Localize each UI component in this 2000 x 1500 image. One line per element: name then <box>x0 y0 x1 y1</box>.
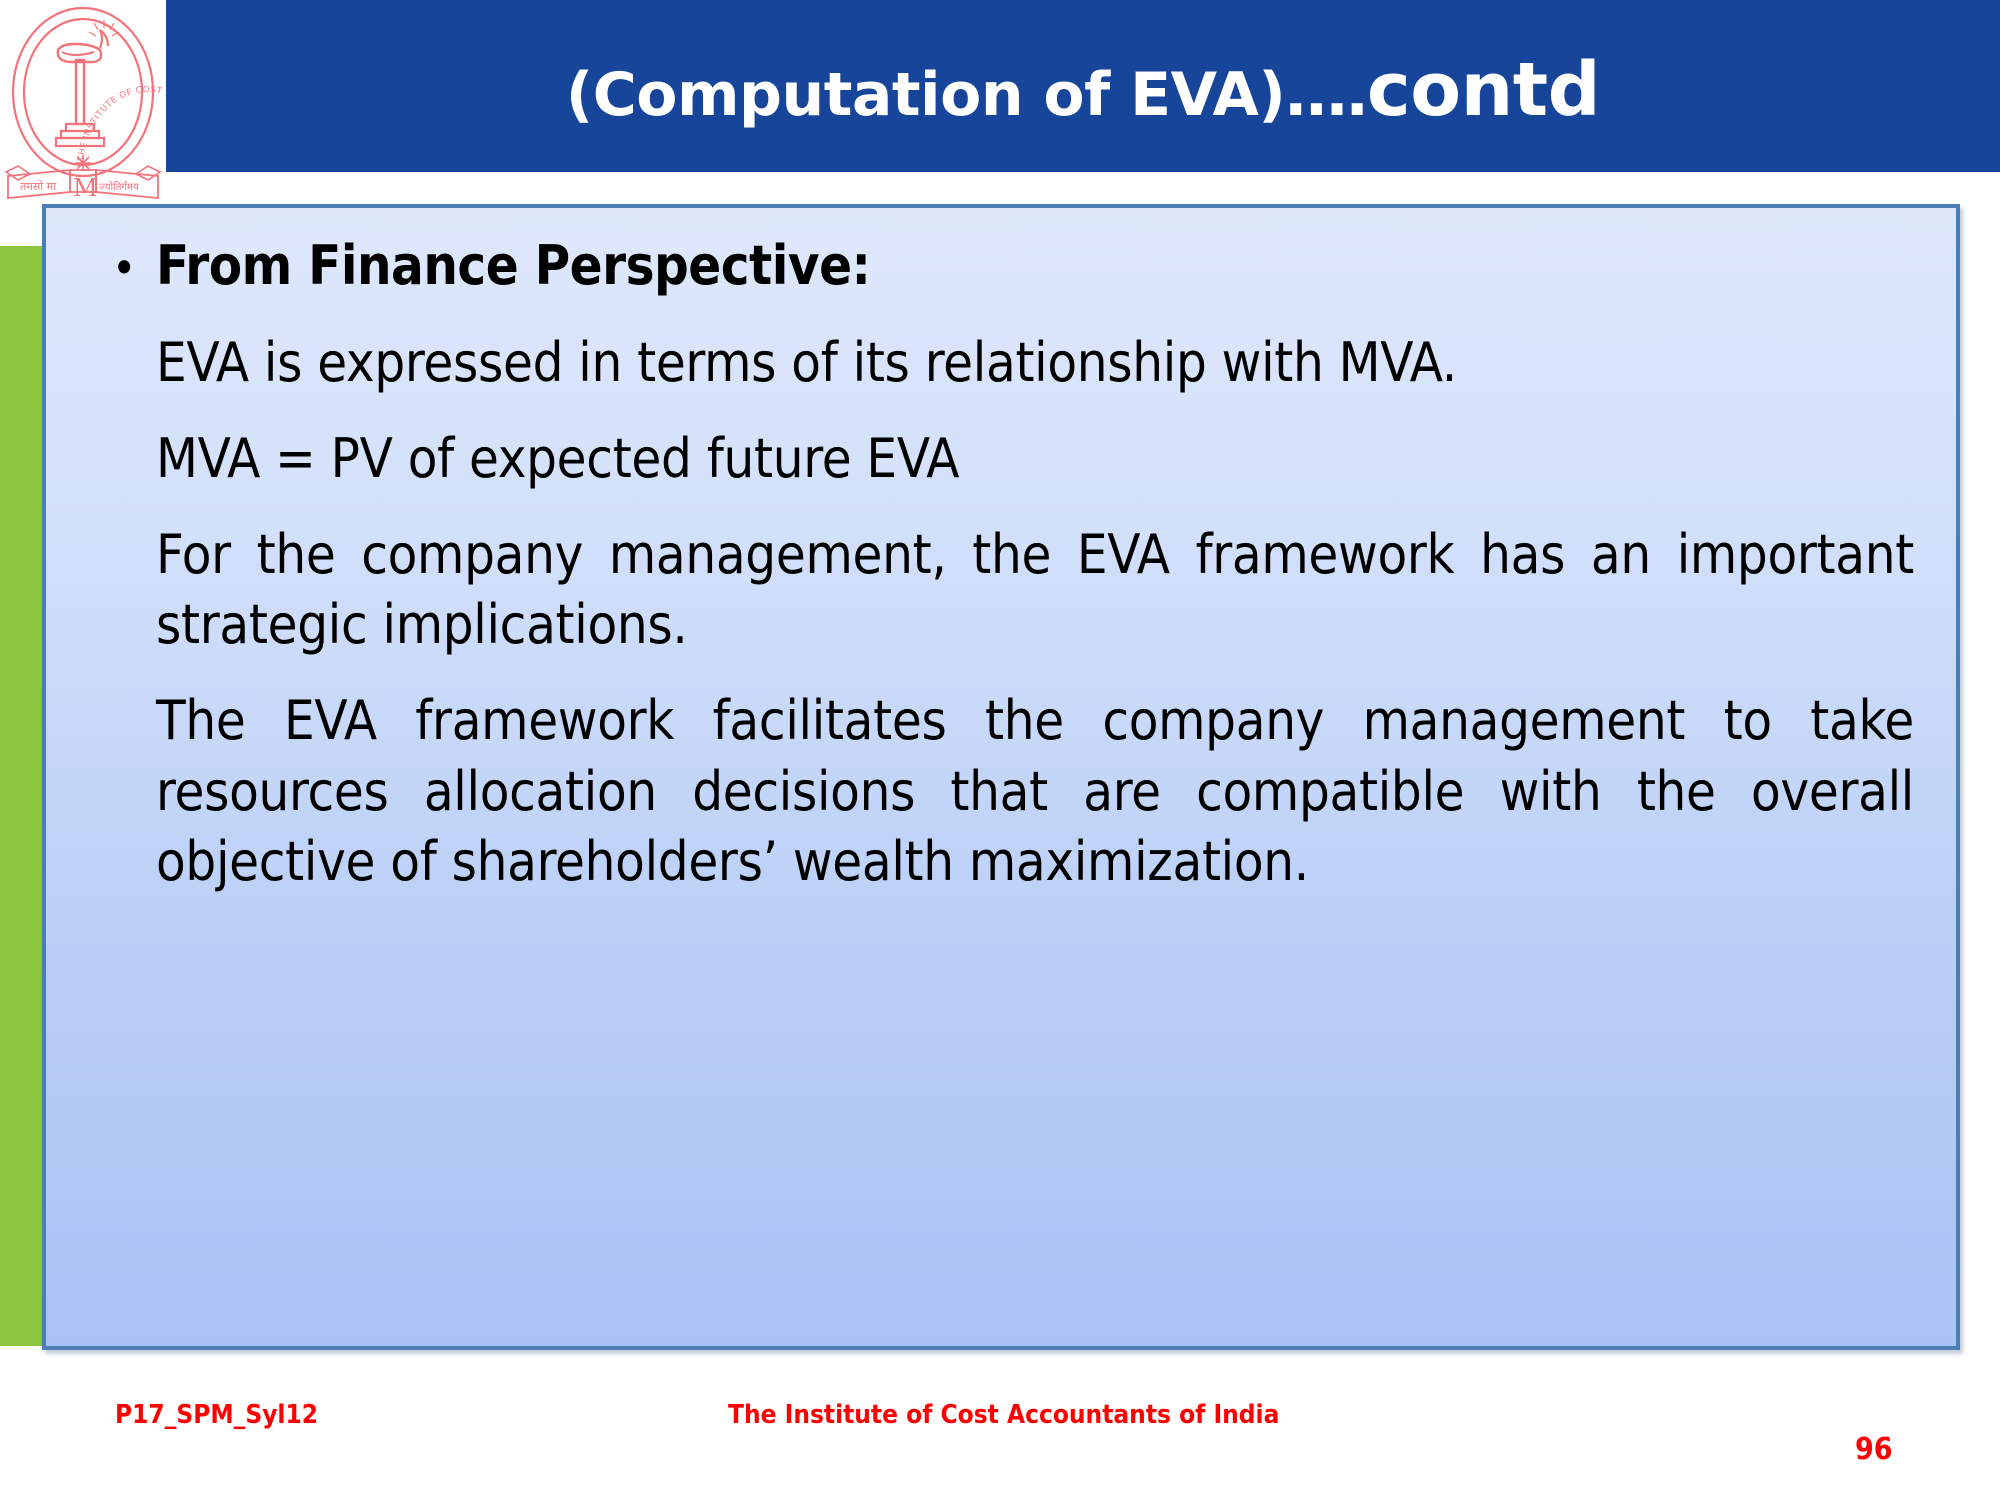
icai-logo-icon: THE INSTITUTE OF COST ACCOUNTANTS OF IND… <box>0 0 166 200</box>
footer-institute-name: The Institute of Cost Accountants of Ind… <box>728 1400 1279 1430</box>
content-panel: • From Finance Perspective: EVA is expre… <box>42 204 1960 1350</box>
logo-ribbon-right: ज्योतिर्गमय <box>99 181 139 193</box>
slide-header-bar: (Computation of EVA)….contd <box>166 0 2000 172</box>
logo-monogram: M <box>73 174 98 200</box>
bullet-point-icon: • <box>94 245 156 291</box>
paragraph-strategic-implications: For the company management, the EVA fram… <box>94 520 1914 660</box>
page-title-ellipsis: …. <box>1285 57 1367 130</box>
footer-course-code: P17_SPM_Syl12 <box>115 1400 318 1430</box>
page-title-main: (Computation of EVA) <box>566 60 1286 130</box>
paragraph-mva-formula: MVA = PV of expected future EVA <box>94 424 1914 494</box>
section-heading: From Finance Perspective: <box>156 234 870 298</box>
logo-area: THE INSTITUTE OF COST ACCOUNTANTS OF IND… <box>0 0 166 200</box>
page-title-contd: contd <box>1367 47 1600 133</box>
paragraph-resource-allocation: The EVA framework facilitates the compan… <box>94 686 1914 897</box>
slide-canvas: (Computation of EVA)….contd THE INSTITUT… <box>0 0 2000 1500</box>
bullet-heading-row: • From Finance Perspective: <box>94 234 1914 298</box>
page-title: (Computation of EVA)….contd <box>566 53 1600 127</box>
paragraph-eva-mva-relationship: EVA is expressed in terms of its relatio… <box>94 328 1914 398</box>
left-accent-bar <box>0 246 48 1346</box>
logo-ribbon-left: तमसो मा <box>20 180 56 193</box>
footer-page-number: 96 <box>1855 1432 1893 1467</box>
